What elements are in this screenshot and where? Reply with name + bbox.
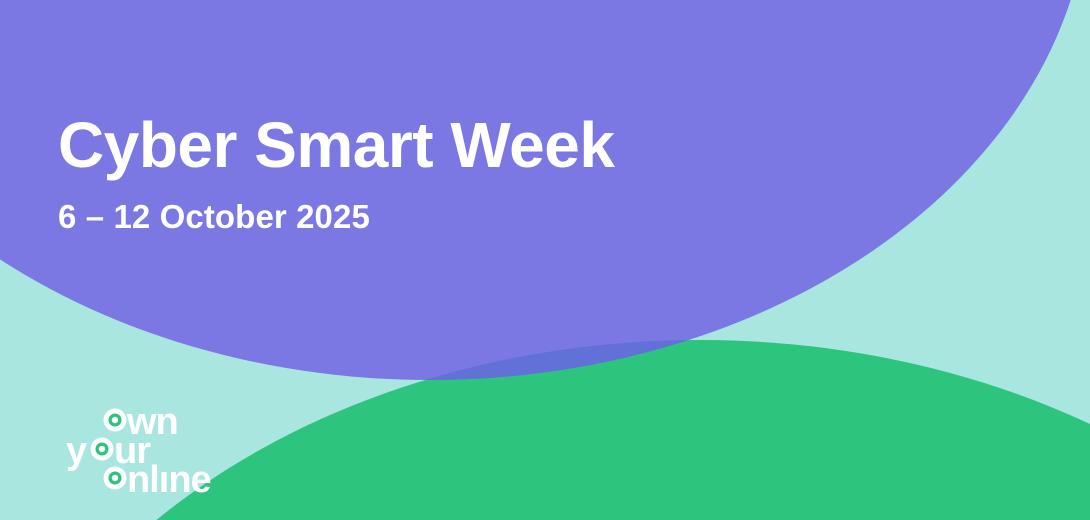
cyber-smart-week-banner: Cyber Smart Week 6 – 12 October 2025 wn … bbox=[0, 0, 1090, 520]
logo-text-online-suffix: nlıne bbox=[127, 459, 211, 501]
own-your-online-logo[interactable]: wn y ur bbox=[58, 403, 248, 498]
headline-block: Cyber Smart Week 6 – 12 October 2025 bbox=[58, 112, 614, 235]
bullseye-target-icon bbox=[91, 438, 114, 461]
date-range: 6 – 12 October 2025 bbox=[58, 179, 614, 235]
page-title: Cyber Smart Week bbox=[58, 112, 614, 179]
logo-text-your-prefix: y bbox=[66, 430, 87, 472]
bullseye-target-icon bbox=[104, 467, 127, 490]
bullseye-target-icon bbox=[104, 409, 127, 432]
